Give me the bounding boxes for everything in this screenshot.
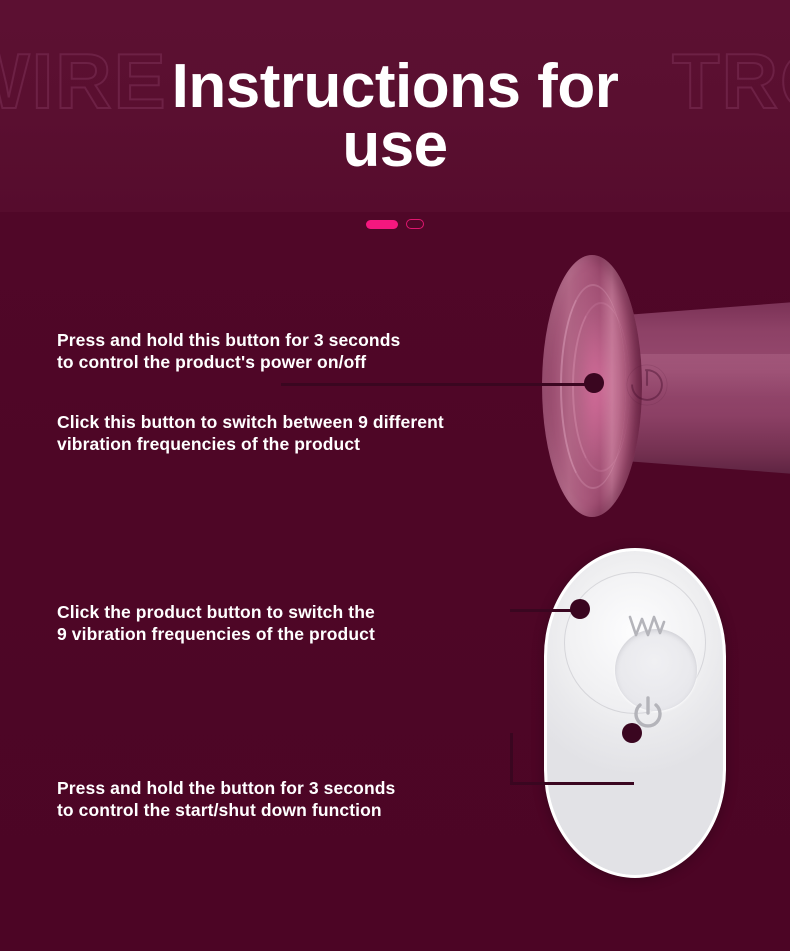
leader-dot-remote-power: [622, 723, 642, 743]
pagination-indicator: [0, 219, 790, 229]
pagination-dot-inactive[interactable]: [406, 219, 424, 229]
pagination-dot-active[interactable]: [366, 220, 398, 229]
callout-remote-frequency: Click the product button to switch the 9…: [57, 601, 537, 646]
infographic-canvas: WIRE TRO Instructions for use Press and …: [0, 0, 790, 951]
wave-icon[interactable]: [627, 613, 667, 639]
remote-body: [544, 548, 726, 878]
main-product-image: [520, 250, 790, 525]
page-title: Instructions for use: [0, 58, 790, 176]
leader-line-power-hold: [281, 383, 591, 386]
leader-elbow-remote-power: [510, 733, 634, 785]
remote-control-image: [544, 548, 726, 878]
leader-dot-power-hold: [584, 373, 604, 393]
power-icon[interactable]: [626, 364, 668, 406]
leader-line-remote-frequency: [510, 609, 576, 612]
callout-frequency-switch: Click this button to switch between 9 di…: [57, 411, 547, 456]
callout-power-hold: Press and hold this button for 3 seconds…: [57, 329, 537, 374]
remote-button-disc-outer: [564, 572, 706, 714]
leader-dot-remote-frequency: [570, 599, 590, 619]
callout-remote-power: Press and hold the button for 3 seconds …: [57, 777, 537, 822]
page-title-line-2: use: [0, 117, 790, 176]
page-title-line-1: Instructions for: [0, 58, 790, 117]
